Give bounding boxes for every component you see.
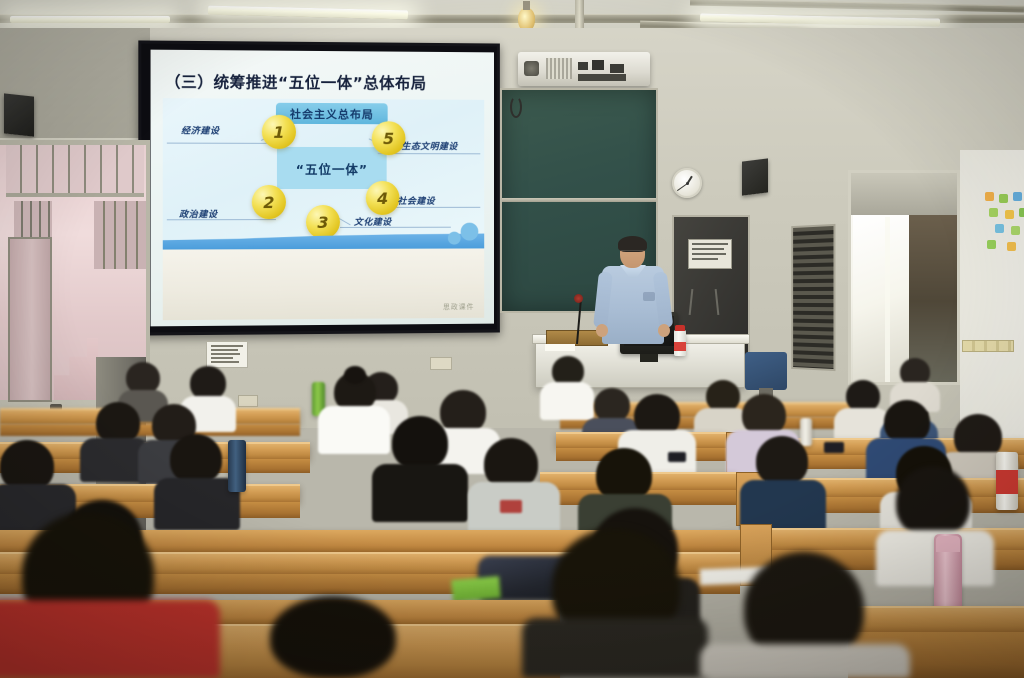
student-body xyxy=(318,406,390,454)
blue-chair xyxy=(745,352,787,390)
thermos-cap xyxy=(936,536,960,552)
lecturer-glasses xyxy=(621,250,644,255)
student-head xyxy=(190,366,226,400)
wall-socket-lower xyxy=(238,395,258,407)
slide-label-5: 生态文明建设 xyxy=(402,139,458,152)
student-body xyxy=(522,618,708,678)
slide-footer-band: 思政课件 xyxy=(163,248,484,320)
phone-in-hand-1 xyxy=(500,500,522,513)
slide-label-4: 社会建设 xyxy=(398,194,436,207)
blue-thermos-bottle-left xyxy=(228,440,246,492)
red-label-water-bottle xyxy=(996,452,1018,510)
sticky-note-7 xyxy=(995,224,1004,233)
ceiling-tube-light-1 xyxy=(10,16,170,23)
lecture-hall-photo: （三）统筹推进“五位一体”总体布局 社会主义总布局 “五位一体” 1 2 3 xyxy=(0,0,1024,678)
slide-title: （三）统筹推进“五位一体”总体布局 xyxy=(165,70,482,94)
lecturer-right-hand xyxy=(658,324,670,337)
doorway-grille-right xyxy=(94,201,146,269)
projection-screen: （三）统筹推进“五位一体”总体布局 社会主义总布局 “五位一体” 1 2 3 xyxy=(138,40,500,335)
projector-vent-grille xyxy=(546,58,572,79)
student-body xyxy=(372,464,468,522)
lecturer-left-hand xyxy=(596,324,608,337)
projected-slide: （三）统筹推进“五位一体”总体布局 社会主义总布局 “五位一体” 1 2 3 xyxy=(151,50,494,327)
wall-speaker-right xyxy=(742,158,768,195)
gear-icon-small xyxy=(448,232,461,245)
window-daylight xyxy=(853,215,909,385)
projector-lens xyxy=(524,61,539,76)
sticky-note-5 xyxy=(1005,210,1014,219)
sticky-note-8 xyxy=(1011,226,1020,235)
student-head xyxy=(594,388,630,422)
projector-connector-row xyxy=(578,74,626,81)
podium-papers xyxy=(545,344,575,351)
sticky-note-2 xyxy=(999,194,1008,203)
window-transom xyxy=(851,173,960,215)
clear-water-bottle xyxy=(800,418,812,446)
door-leaf[interactable] xyxy=(8,237,52,402)
lecturer xyxy=(596,238,676,350)
phone-on-desk-2 xyxy=(824,442,844,453)
right-window xyxy=(848,170,960,385)
doorway-transom-bars xyxy=(6,145,144,197)
desk-row-a-left-front xyxy=(0,424,300,436)
door-handle-bar-2[interactable] xyxy=(715,289,720,315)
wall-socket-upper xyxy=(430,357,452,370)
wall-clock xyxy=(672,168,702,198)
clock-center xyxy=(686,182,689,185)
sticky-note-9 xyxy=(987,240,996,249)
wall-notice-sign xyxy=(206,341,248,368)
slide-label-3: 文化建设 xyxy=(354,215,392,228)
green-notebook xyxy=(451,576,501,602)
sticky-note-6 xyxy=(1019,208,1024,217)
slide-center-box: “五位一体” xyxy=(277,147,387,189)
slide-label-1: 经济建设 xyxy=(181,123,219,136)
student-body-red-shirt xyxy=(0,600,220,678)
desk-row-e-right xyxy=(848,606,1024,632)
hair-bun xyxy=(344,366,366,384)
sticky-note-3 xyxy=(1013,192,1022,201)
student-body xyxy=(700,644,910,678)
blackboard-rail xyxy=(502,198,656,202)
student-body xyxy=(540,382,594,420)
sticky-note-1 xyxy=(985,192,994,201)
slide-ball-4: 4 xyxy=(366,181,400,215)
slide-ball-1: 1 xyxy=(262,115,296,149)
student-head xyxy=(170,434,222,484)
slide-diagram: 社会主义总布局 “五位一体” 1 2 3 4 5 xyxy=(163,98,484,249)
wall-outlet-strip xyxy=(962,340,1014,352)
gear-icon-large xyxy=(461,223,479,241)
sticky-note-4 xyxy=(989,208,998,217)
student-head xyxy=(270,596,396,678)
slide-ball-5: 5 xyxy=(372,121,406,155)
wall-vent-grille xyxy=(791,224,835,371)
slide-ball-2: 2 xyxy=(252,185,286,219)
window-mullion xyxy=(885,217,890,385)
student-head xyxy=(392,416,448,470)
projector-port-1 xyxy=(578,62,588,70)
projector-port-3 xyxy=(610,64,624,73)
microphone-head xyxy=(574,294,583,303)
bottle-label xyxy=(996,470,1018,494)
left-doorway[interactable] xyxy=(0,140,150,400)
leader-line-1 xyxy=(167,143,274,144)
door-notice-sign xyxy=(688,239,732,269)
projector-port-2 xyxy=(592,60,604,70)
shirt-pocket xyxy=(643,292,655,301)
stairwell-steps xyxy=(54,338,98,400)
student-head xyxy=(896,466,970,538)
phone-on-desk-1 xyxy=(668,452,686,462)
wall-speaker-left xyxy=(4,93,34,136)
slide-watermark: 思政课件 xyxy=(443,302,474,312)
hanging-cord xyxy=(510,96,522,118)
bottle-cap xyxy=(675,325,685,331)
ceiling-projector xyxy=(518,52,650,86)
student-head xyxy=(756,436,808,486)
sticky-note-10 xyxy=(1007,242,1016,251)
slide-label-2: 政治建设 xyxy=(179,207,218,220)
monitor-stand xyxy=(640,354,658,362)
door-handle-bar-1[interactable] xyxy=(689,289,694,315)
slide-ball-3: 3 xyxy=(306,205,340,239)
